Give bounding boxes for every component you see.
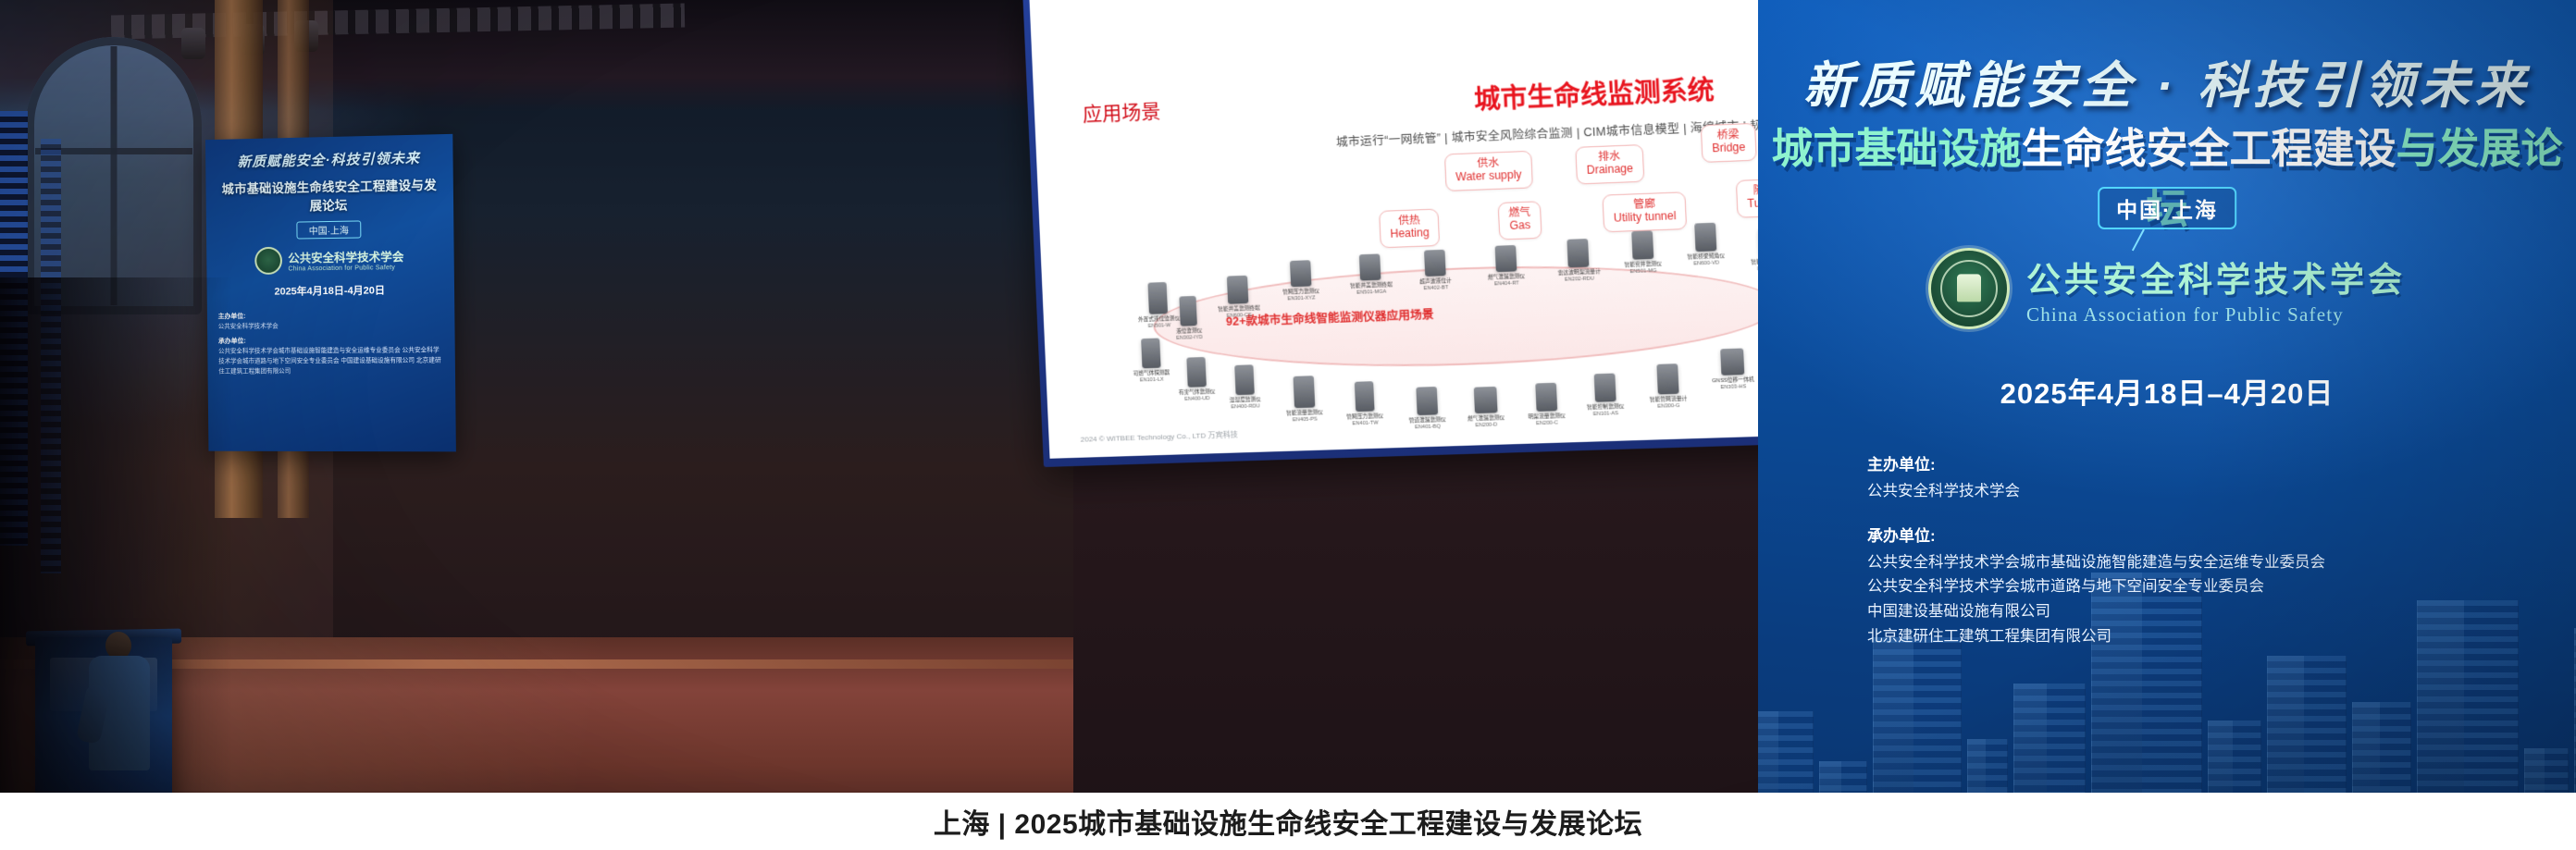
banner-title-part2: 生命线安全工程建设 bbox=[2021, 125, 2396, 172]
device-model: EN400-RDU bbox=[1230, 403, 1261, 410]
screenshot-root: 新质赋能安全·科技引领未来 城市基础设施生命线安全工程建设与发展论坛 中国·上海… bbox=[0, 0, 2576, 850]
mini-banner-assoc: 公共安全科学技术学会 China Association for Public … bbox=[217, 244, 443, 275]
device-model: EN401-TW bbox=[1347, 420, 1384, 426]
device-model: EN200-C bbox=[1529, 420, 1567, 426]
device-item: GNSS位移一体机EN303-HS bbox=[1711, 348, 1755, 390]
device-icon bbox=[1141, 339, 1161, 369]
device-model: EN302-IYD bbox=[1176, 335, 1203, 341]
host-label: 主办单位: bbox=[1867, 451, 2325, 474]
mini-host-label: 主办单位: bbox=[218, 310, 444, 323]
host-list: 公共安全科学技术学会 bbox=[1867, 479, 2325, 504]
device-icon bbox=[1720, 348, 1744, 375]
device-item: 智能管网流量计EN300-G bbox=[1648, 363, 1688, 410]
stage-side-banner: 新质赋能安全·科技引领未来 城市基础设施生命线安全工程建设与发展论坛 中国·上海… bbox=[205, 134, 456, 452]
location-badge: 中国·上海 bbox=[2098, 187, 2236, 229]
device-item: 明渠流量监测仪EN200-C bbox=[1527, 382, 1566, 426]
organizer-item: 中国建设基础设施有限公司 bbox=[1867, 603, 2050, 620]
device-model: EN501-MG bbox=[1625, 268, 1663, 276]
device-item: 外置式液位监测仪EN501-W bbox=[1136, 282, 1180, 330]
device-icon bbox=[1416, 387, 1438, 415]
device-item: 管道泄漏监测仪EN401-BQ bbox=[1407, 387, 1446, 431]
device-item: 燃气泄漏监测仪EN200-D bbox=[1467, 387, 1505, 429]
event-date: 2025年4月18日–4月20日 bbox=[1758, 370, 2576, 412]
organizer-block: 主办单位: 公共安全科学技术学会 承办单位: 公共安全科学技术学会城市基础设施智… bbox=[1867, 451, 2325, 649]
device-model: EN200-D bbox=[1468, 422, 1505, 428]
organizer-item: 北京建研住工建筑工程集团有限公司 bbox=[1867, 628, 2112, 645]
mini-organizer-label: 承办单位: bbox=[218, 336, 444, 348]
device-item: 智能桥梁倾角仪EN600-VD bbox=[1686, 222, 1726, 266]
device-model: EN101-AS bbox=[1587, 411, 1625, 417]
device-model: EN202-RDU bbox=[1558, 276, 1601, 283]
device-item: 管网压力监测仪EN301-XYZ bbox=[1282, 260, 1320, 302]
organizer-list: 公共安全科学技术学会城市基础设施智能建造与安全运维专业委员会公共安全科学技术学会… bbox=[1867, 550, 2325, 649]
caption-bar: 上海 | 2025城市基础设施生命线安全工程建设与发展论坛 bbox=[0, 793, 2576, 850]
mini-banner-date: 2025年4月18日-4月20日 bbox=[217, 282, 443, 300]
caption-text: 上海 | 2025城市基础设施生命线安全工程建设与发展论坛 bbox=[934, 801, 1642, 842]
mini-banner-title: 城市基础设施生命线安全工程建设与发展论坛 bbox=[217, 175, 442, 216]
device-icon bbox=[1186, 357, 1207, 388]
device-icon bbox=[1148, 282, 1169, 314]
main-event-banner: 新质赋能安全 · 科技引领未来 城市基础设施生命线安全工程建设与发展论坛 中国·… bbox=[1758, 0, 2576, 850]
device-icon bbox=[1289, 260, 1311, 287]
device-model: EN401-BQ bbox=[1409, 424, 1446, 430]
device-item: 燃气泄漏监测仪EN404-RT bbox=[1486, 245, 1525, 288]
device-item: 智能井盖监测终端EN501-MGA bbox=[1349, 253, 1393, 296]
device-item: 有害气体监测仪EN400-UD bbox=[1177, 357, 1216, 403]
device-icon bbox=[1179, 296, 1197, 326]
device-icon bbox=[1535, 383, 1557, 412]
association-seal-icon bbox=[255, 247, 283, 275]
association-text: 公共安全科学技术学会 China Association for Public … bbox=[2026, 252, 2406, 326]
device-item: 温湿度监测仪EN400-RDU bbox=[1228, 364, 1261, 410]
device-icon bbox=[1227, 276, 1249, 304]
device-icon bbox=[1631, 230, 1653, 259]
device-icon bbox=[1494, 245, 1517, 272]
device-icon bbox=[1354, 381, 1374, 412]
device-model: EN300-G bbox=[1650, 403, 1688, 410]
device-icon bbox=[1656, 363, 1678, 394]
banner-title-part1: 城市基础设施 bbox=[1771, 125, 2021, 172]
mini-assoc-en: China Association for Public Safety bbox=[288, 265, 403, 273]
device-item: 智能控制监测仪EN101-AS bbox=[1585, 373, 1624, 417]
device-model: EN402-BT bbox=[1420, 285, 1453, 291]
banner-calligraphy: 新质赋能安全 · 科技引领未来 bbox=[1758, 44, 2576, 117]
mini-banner-badge: 中国·上海 bbox=[296, 220, 361, 239]
foreground-dark-edge bbox=[0, 277, 231, 850]
device-icon bbox=[1359, 253, 1381, 280]
venue-photo-region: 新质赋能安全·科技引领未来 城市基础设施生命线安全工程建设与发展论坛 中国·上海… bbox=[0, 0, 1073, 850]
mini-assoc-cn: 公共安全科学技术学会 bbox=[288, 247, 403, 266]
device-icon bbox=[1694, 223, 1716, 252]
association-name-en: China Association for Public Safety bbox=[2026, 303, 2406, 326]
device-item: 可燃气体探测器EN101-LX bbox=[1132, 338, 1170, 383]
mini-banner-organizers: 主办单位: 公共安全科学技术学会 承办单位: 公共安全科学技术学会城市基础设施智… bbox=[218, 310, 444, 377]
mini-organizer-text: 公共安全科学技术学会城市基础设施智能建造与安全运维专业委员会 公共安全科学技术学… bbox=[218, 347, 441, 375]
association-seal-icon bbox=[1928, 248, 2010, 329]
device-item: 超声波液位计EN402-BT bbox=[1418, 250, 1452, 292]
device-model: EN301-XYZ bbox=[1283, 295, 1320, 302]
organizer-item: 公共安全科学技术学会城市基础设施智能建造与安全运维专业委员会 bbox=[1867, 554, 2325, 571]
device-item: 液位监测仪EN302-IYD bbox=[1174, 296, 1203, 341]
device-model: EN400-UD bbox=[1179, 396, 1216, 402]
device-item: 雷达波明渠流量计EN202-RDU bbox=[1556, 239, 1601, 283]
association-block: 公共安全科学技术学会 China Association for Public … bbox=[1758, 248, 2576, 329]
device-item: 智能窖井监测仪EN501-MG bbox=[1623, 230, 1663, 275]
device-icon bbox=[1234, 364, 1255, 395]
device-model: EN405-PS bbox=[1286, 416, 1323, 423]
mini-banner-calligraphy: 新质赋能安全·科技引领未来 bbox=[217, 147, 442, 171]
device-item: 智能井盖监测终端EN600-CS bbox=[1217, 275, 1260, 319]
device-icon bbox=[1424, 250, 1446, 277]
association-name-cn: 公共安全科学技术学会 bbox=[2026, 252, 2406, 302]
host-item: 公共安全科学技术学会 bbox=[1867, 483, 2020, 499]
device-item: 智能流量监测仪EN405-PS bbox=[1284, 376, 1323, 424]
organizer-label: 承办单位: bbox=[1867, 523, 2325, 546]
device-model: EN404-RT bbox=[1488, 280, 1525, 288]
device-item: 管网压力监测仪EN401-TW bbox=[1345, 381, 1384, 427]
organizer-item: 公共安全科学技术学会城市道路与地下空间安全专业委员会 bbox=[1867, 578, 2264, 595]
device-model: EN600-VD bbox=[1688, 260, 1726, 267]
device-icon bbox=[1473, 387, 1497, 413]
device-icon bbox=[1293, 376, 1315, 408]
device-model: EN501-MGA bbox=[1350, 289, 1393, 296]
device-icon bbox=[1593, 374, 1616, 402]
device-icon bbox=[1567, 239, 1590, 267]
